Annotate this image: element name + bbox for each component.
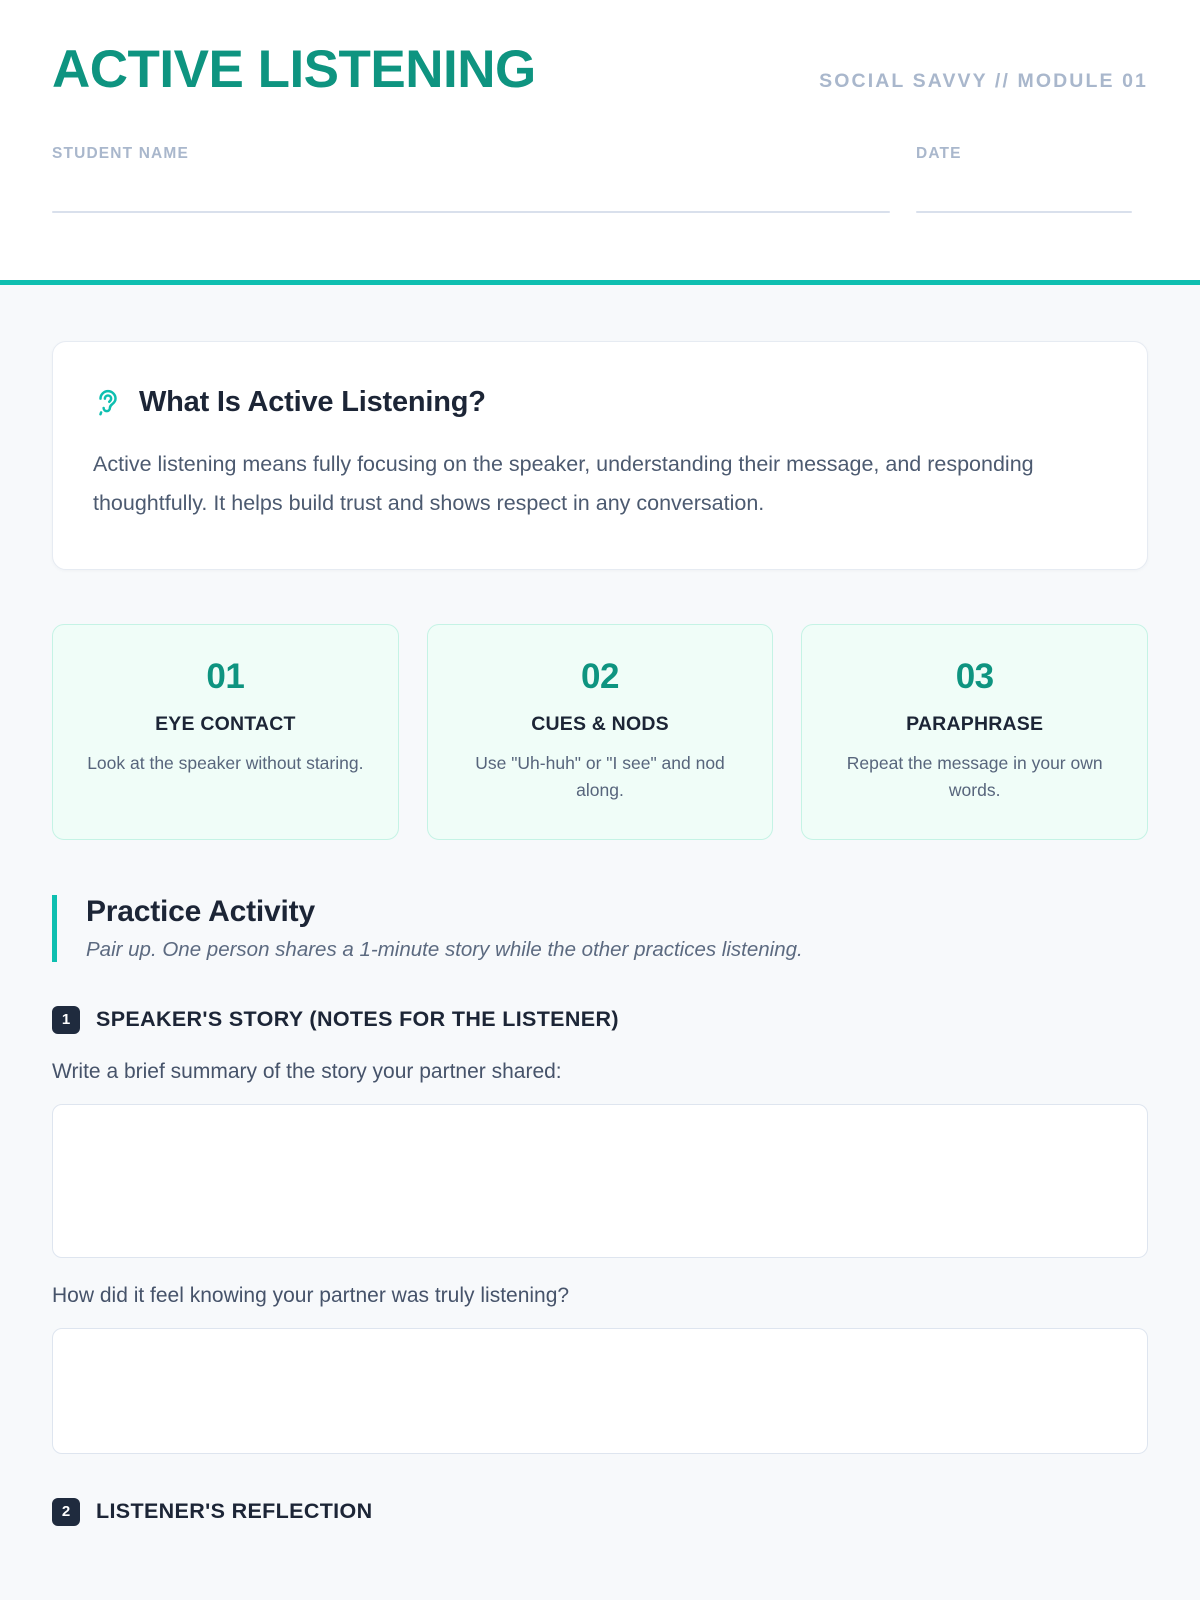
student-name-field[interactable]: STUDENT NAME [52,145,890,213]
definition-title: What Is Active Listening? [139,386,486,419]
practice-activity-title: Practice Activity [86,895,1148,929]
ear-icon [93,387,123,419]
page-title: ACTIVE LISTENING [52,42,536,98]
module-tag: SOCIAL SAVVY // MODULE 01 [819,70,1148,93]
tip-number: 01 [75,659,376,694]
step-title: SPEAKER'S STORY (NOTES FOR THE LISTENER) [96,1007,619,1032]
tips-row: 01 EYE CONTACT Look at the speaker witho… [52,624,1148,840]
student-name-writing-line[interactable] [52,211,890,213]
practice-activity-subtitle: Pair up. One person shares a 1-minute st… [86,938,1148,962]
tip-description: Look at the speaker without staring. [75,750,376,776]
step-number-badge: 2 [52,1498,80,1526]
tip-description: Use "Uh-huh" or "I see" and nod along. [450,750,751,803]
answer-box-2[interactable] [52,1328,1148,1454]
step-2: 2 LISTENER'S REFLECTION [52,1498,1148,1526]
tip-card-03: 03 PARAPHRASE Repeat the message in your… [801,624,1148,840]
worksheet-body: What Is Active Listening? Active listeni… [0,285,1200,1526]
tip-name: CUES & NODS [450,713,751,736]
definition-card: What Is Active Listening? Active listeni… [52,341,1148,570]
date-label: DATE [916,145,1132,163]
question-prompt-1: Write a brief summary of the story your … [52,1060,1148,1084]
header-top-row: ACTIVE LISTENING SOCIAL SAVVY // MODULE … [52,42,1148,98]
tip-number: 02 [450,659,751,694]
step-2-header: 2 LISTENER'S REFLECTION [52,1498,1148,1526]
practice-activity-header: Practice Activity Pair up. One person sh… [52,895,1148,962]
tip-card-02: 02 CUES & NODS Use "Uh-huh" or "I see" a… [427,624,774,840]
worksheet-header: ACTIVE LISTENING SOCIAL SAVVY // MODULE … [0,0,1200,285]
definition-body-text: Active listening means fully focusing on… [93,445,1107,523]
definition-header: What Is Active Listening? [93,386,1107,419]
tip-name: PARAPHRASE [824,713,1125,736]
tip-card-01: 01 EYE CONTACT Look at the speaker witho… [52,624,399,840]
step-1-header: 1 SPEAKER'S STORY (NOTES FOR THE LISTENE… [52,1006,1148,1034]
date-field[interactable]: DATE [916,145,1132,213]
question-prompt-2: How did it feel knowing your partner was… [52,1284,1148,1308]
date-writing-line[interactable] [916,211,1132,213]
answer-box-1[interactable] [52,1104,1148,1258]
tip-name: EYE CONTACT [75,713,376,736]
step-title: LISTENER'S REFLECTION [96,1499,372,1524]
header-accent-bar [0,280,1200,285]
tip-description: Repeat the message in your own words. [824,750,1125,803]
student-name-label: STUDENT NAME [52,145,890,163]
tip-number: 03 [824,659,1125,694]
step-1: 1 SPEAKER'S STORY (NOTES FOR THE LISTENE… [52,1006,1148,1454]
step-number-badge: 1 [52,1006,80,1034]
student-meta-row: STUDENT NAME DATE [52,145,1148,213]
